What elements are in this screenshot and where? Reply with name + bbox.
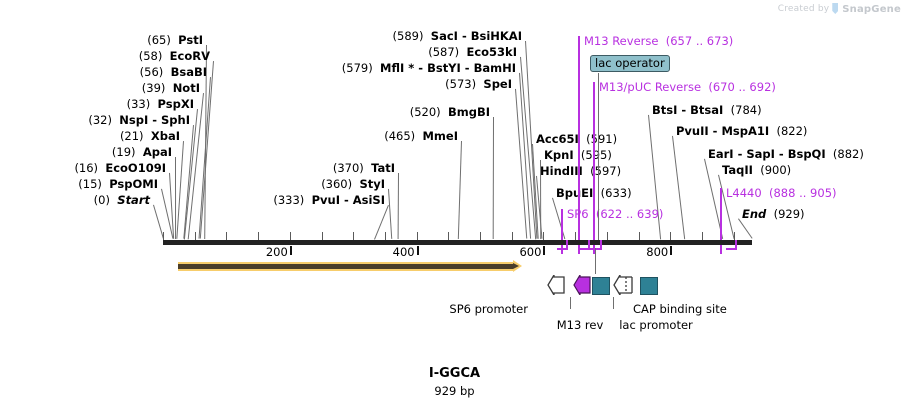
site-position: (370) xyxy=(333,161,364,175)
leader-line xyxy=(388,189,392,239)
restriction-site-label[interactable]: (19) ApaI xyxy=(112,145,172,159)
site-position: (579) xyxy=(342,61,373,75)
enzyme-name: SapI xyxy=(746,147,775,161)
restriction-site-label[interactable]: (360) StyI xyxy=(321,177,385,191)
enzyme-name: SpeI xyxy=(483,77,512,91)
feature-connector-line xyxy=(595,248,596,274)
site-position: (360) xyxy=(321,177,352,191)
enzyme-name: Acc65I xyxy=(536,132,579,146)
ruler-tick xyxy=(385,232,386,240)
site-position: (32) xyxy=(88,113,112,127)
restriction-site-label[interactable]: (587) Eco53kI xyxy=(428,45,517,59)
restriction-site-label[interactable]: (32) NspI - SphI xyxy=(88,113,190,127)
feature-label[interactable]: M13 rev xyxy=(557,318,604,332)
leader-line xyxy=(184,109,198,239)
primer-bracket-bar xyxy=(557,248,568,250)
enzyme-name: XbaI xyxy=(151,129,180,143)
plasmid-name: I-GGCA xyxy=(0,366,909,381)
enzyme-name: PspOMI xyxy=(109,177,158,191)
restriction-site-label[interactable]: End (929) xyxy=(742,207,805,221)
ruler-tick xyxy=(480,232,481,240)
site-position: (784) xyxy=(731,103,762,117)
primer-bracket-cap xyxy=(566,240,568,248)
snapgene-map-canvas: Created by SnapGene (65) PstI(58) EcoRV(… xyxy=(0,0,909,405)
restriction-site-label[interactable]: (65) PstI xyxy=(147,33,203,47)
site-position: (33) xyxy=(127,97,151,111)
plasmid-length: 929 bp xyxy=(0,384,909,398)
site-position: (56) xyxy=(140,65,164,79)
ruler-tick xyxy=(290,232,291,240)
restriction-site-label[interactable]: (21) XbaI xyxy=(120,129,180,143)
orf-arrow-shaft xyxy=(178,262,513,271)
enzyme-name: AsiSI xyxy=(353,193,385,207)
restriction-site-label[interactable]: (573) SpeI xyxy=(445,77,512,91)
watermark-prefix: Created by xyxy=(778,4,830,14)
feature-label[interactable]: lac promoter xyxy=(619,318,693,332)
watermark-brand: SnapGene xyxy=(842,4,901,15)
enzyme-name: MmeI xyxy=(422,129,458,143)
enzyme-name: MflI * xyxy=(380,61,414,75)
ruler-tick xyxy=(195,232,196,240)
restriction-site-label[interactable]: HindIII (597) xyxy=(540,164,621,178)
enzyme-name: PstI xyxy=(178,33,203,47)
restriction-site-label[interactable]: (58) EcoRV xyxy=(139,49,210,63)
enzyme-name: ApaI xyxy=(143,145,172,159)
enzyme-name: MspA1I xyxy=(721,124,769,138)
enzyme-name: EcoO109I xyxy=(105,161,166,175)
ruler-tick-label: 400 xyxy=(393,245,415,259)
restriction-site-label[interactable]: (56) BsaBI xyxy=(140,65,207,79)
primer-range: (622 .. 639) xyxy=(596,207,664,221)
enzyme-name: PvuII xyxy=(676,124,709,138)
enzyme-name: PvuI xyxy=(312,193,340,207)
ruler-tick xyxy=(607,232,608,240)
leader-line xyxy=(398,173,399,239)
snapgene-flag-icon xyxy=(832,3,839,15)
enzyme-name: BsaBI xyxy=(171,65,207,79)
site-position: (587) xyxy=(428,45,459,59)
lac-operator-label: lac operator xyxy=(595,56,665,70)
enzyme-name: NotI xyxy=(173,81,200,95)
primer-bracket-bar xyxy=(726,248,737,250)
ruler-tick xyxy=(163,232,164,240)
ruler-tick-label: 800 xyxy=(646,245,668,259)
primer-name: M13/pUC Reverse xyxy=(599,80,701,94)
feature-leader-line xyxy=(570,297,571,309)
primer-name: M13 Reverse xyxy=(584,34,658,48)
ruler-tick-label: 600 xyxy=(519,245,541,259)
restriction-site-label[interactable]: BtsI - BtsaI (784) xyxy=(652,103,762,117)
enzyme-name: BpuEI xyxy=(556,186,593,200)
ruler-tick xyxy=(448,232,449,240)
enzyme-name: StyI xyxy=(359,177,385,191)
enzyme-name: TatI xyxy=(371,161,395,175)
enzyme-name: BspQI xyxy=(788,147,826,161)
arrow-left-white-icon[interactable] xyxy=(547,275,565,299)
ruler-major-tick xyxy=(417,246,419,255)
enzyme-name: NspI xyxy=(119,113,148,127)
enzyme-name: BstYI xyxy=(427,61,461,75)
lac-operator-badge[interactable]: lac operator xyxy=(590,55,670,72)
enzyme-name: Start xyxy=(117,193,150,207)
enzyme-name: EcoRV xyxy=(170,49,210,63)
leader-line xyxy=(738,218,753,239)
primer-label[interactable]: M13/pUC Reverse (670 .. 692) xyxy=(599,80,776,94)
primer-range: (657 .. 673) xyxy=(666,34,734,48)
ruler-tick xyxy=(322,232,323,240)
site-position: (21) xyxy=(120,129,144,143)
primer-leader-line xyxy=(578,36,580,254)
enzyme-name: TaqII xyxy=(722,163,753,177)
site-position: (597) xyxy=(590,164,621,178)
leader-line xyxy=(552,198,565,239)
arrow-left-dotted-icon[interactable] xyxy=(613,275,633,299)
ruler-tick xyxy=(226,232,227,240)
site-position: (595) xyxy=(581,148,612,162)
restriction-site-label[interactable]: EarI - SapI - BspQI (882) xyxy=(708,147,864,161)
site-position: (633) xyxy=(601,186,632,200)
restriction-site-label[interactable]: TaqII (900) xyxy=(722,163,791,177)
primer-bracket-cap xyxy=(735,240,737,248)
leader-line xyxy=(458,141,462,239)
site-position: (19) xyxy=(112,145,136,159)
primer-label[interactable]: M13 Reverse (657 .. 673) xyxy=(584,34,733,48)
ruler-tick xyxy=(670,232,671,240)
leader-line xyxy=(175,157,176,239)
enzyme-name: End xyxy=(742,207,766,221)
enzyme-name: PspXI xyxy=(158,97,194,111)
primer-range: (888 .. 905) xyxy=(769,186,837,200)
site-position: (882) xyxy=(833,147,864,161)
leader-line xyxy=(176,141,184,239)
orf-arrow-head xyxy=(513,260,522,272)
leader-line xyxy=(672,136,685,239)
ruler-major-tick xyxy=(543,246,545,255)
enzyme-name: SphI xyxy=(161,113,190,127)
operator-leader-line xyxy=(598,73,599,240)
site-position: (465) xyxy=(384,129,415,143)
site-position: (0) xyxy=(94,193,110,207)
ruler-tick xyxy=(575,232,576,240)
restriction-site-label[interactable]: (33) PspXI xyxy=(127,97,194,111)
ruler-tick xyxy=(734,232,735,240)
primer-label[interactable]: L4440 (888 .. 905) xyxy=(726,186,837,200)
enzyme-name: BsiHKAI xyxy=(471,29,522,43)
restriction-site-label[interactable]: (520) BmgBI xyxy=(410,105,490,119)
restriction-site-label[interactable]: (39) NotI xyxy=(142,81,200,95)
enzyme-name: Eco53kI xyxy=(466,45,517,59)
enzyme-name: BamHI xyxy=(474,61,516,75)
enzyme-name: SacI xyxy=(431,29,458,43)
primer-name: SP6 xyxy=(567,207,589,221)
restriction-site-label[interactable]: (589) SacI - BsiHKAI xyxy=(393,29,522,43)
site-position: (929) xyxy=(774,207,805,221)
feature-label[interactable]: SP6 promoter xyxy=(449,302,528,316)
site-position: (589) xyxy=(393,29,424,43)
primer-leader-line xyxy=(593,82,595,254)
site-position: (16) xyxy=(74,161,98,175)
ruler-tick xyxy=(543,232,544,240)
site-position: (900) xyxy=(760,163,791,177)
site-position: (333) xyxy=(273,193,304,207)
site-position: (58) xyxy=(139,49,163,63)
enzyme-name: EarI xyxy=(708,147,734,161)
enzyme-name: BmgBI xyxy=(448,105,490,119)
restriction-site-label[interactable]: (333) PvuI - AsiSI xyxy=(273,193,385,207)
site-position: (65) xyxy=(147,33,171,47)
site-position: (520) xyxy=(410,105,441,119)
restriction-site-label[interactable]: (16) EcoO109I xyxy=(74,161,166,175)
feature-square-icon[interactable] xyxy=(592,277,610,295)
site-position: (591) xyxy=(586,132,617,146)
site-position: (39) xyxy=(142,81,166,95)
leader-line xyxy=(493,117,494,239)
restriction-site-label[interactable]: Acc65I (591) xyxy=(536,132,617,146)
site-position: (822) xyxy=(776,124,807,138)
ruler-tick xyxy=(417,232,418,240)
arrow-left-purple-icon[interactable] xyxy=(573,275,591,299)
primer-label[interactable]: SP6 (622 .. 639) xyxy=(567,207,663,221)
site-position: (15) xyxy=(78,177,102,191)
enzyme-name: KpnI xyxy=(544,148,574,162)
primer-range: (670 .. 692) xyxy=(708,80,776,94)
orf-arrow[interactable] xyxy=(178,262,522,271)
ruler-major-tick xyxy=(290,246,292,255)
ruler-tick xyxy=(353,232,354,240)
enzyme-name: BtsI xyxy=(652,103,677,117)
ruler-tick xyxy=(702,232,703,240)
leader-line xyxy=(374,205,389,239)
enzyme-name: BtsaI xyxy=(690,103,723,117)
feature-square-icon[interactable] xyxy=(640,277,658,295)
feature-label[interactable]: CAP binding site xyxy=(633,302,727,316)
snapgene-watermark: Created by SnapGene xyxy=(778,3,901,15)
primer-bracket[interactable] xyxy=(557,248,568,256)
ruler-tick xyxy=(512,232,513,240)
ruler-tick-label: 200 xyxy=(266,245,288,259)
restriction-site-label[interactable]: (370) TatI xyxy=(333,161,395,175)
primer-bracket-cap xyxy=(600,240,602,248)
restriction-site-label[interactable]: (15) PspOMI xyxy=(78,177,158,191)
restriction-site-label[interactable]: (579) MflI * - BstYI - BamHI xyxy=(342,61,516,75)
ruler-tick xyxy=(258,232,259,240)
enzyme-name: HindIII xyxy=(540,164,583,178)
ruler-major-tick xyxy=(670,246,672,255)
primer-bracket-cap xyxy=(588,240,590,248)
ruler-tick xyxy=(639,232,640,240)
primer-name: L4440 xyxy=(726,186,762,200)
primer-bracket[interactable] xyxy=(726,248,737,256)
site-position: (573) xyxy=(445,77,476,91)
feature-leader-line xyxy=(613,297,614,309)
restriction-site-label[interactable]: PvuII - MspA1I (822) xyxy=(676,124,807,138)
leader-line xyxy=(200,61,214,239)
restriction-site-label[interactable]: (465) MmeI xyxy=(384,129,458,143)
restriction-site-label[interactable]: (0) Start xyxy=(94,193,150,207)
